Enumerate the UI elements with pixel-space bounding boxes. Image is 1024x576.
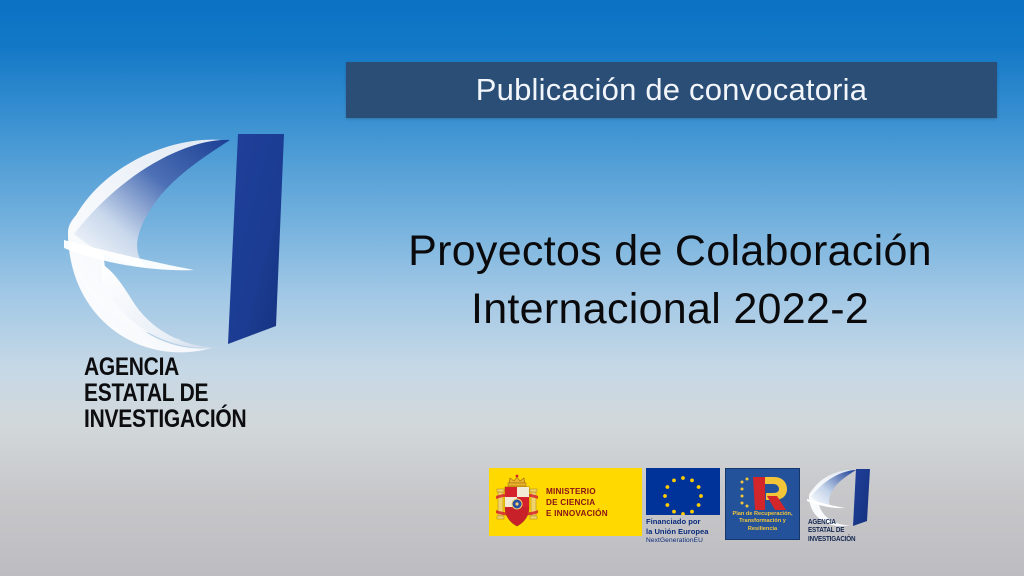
- banner-label: Publicación de convocatoria: [476, 72, 867, 108]
- eu-line-1: Financiado por: [646, 517, 721, 527]
- plan-line-1: Plan de Recuperación,: [726, 511, 799, 518]
- plan-line-3: Resiliencia: [726, 526, 799, 533]
- aei-small-logo: AGENCIA ESTATAL DE INVESTIGACIÓN: [806, 468, 876, 546]
- aei-small-line-1: AGENCIA: [808, 519, 855, 527]
- page-title-line-2: Internacional 2022-2: [330, 280, 1010, 338]
- eu-funding-logo: Financiado por la Unión Europea NextGene…: [646, 468, 721, 546]
- aei-emblem-icon: [62, 132, 306, 362]
- aei-small-line-2: ESTATAL DE: [808, 527, 855, 535]
- page-title: Proyectos de Colaboración Internacional …: [330, 222, 1010, 338]
- ministry-logo: MINISTERIO DE CIENCIA E INNOVACIÓN: [489, 468, 642, 536]
- plan-recuperacion-text: Plan de Recuperación, Transformación y R…: [726, 511, 799, 533]
- presentation-slide: Publicación de convocatoria Proyectos de…: [0, 0, 1024, 576]
- ministry-line-3: E INNOVACIÓN: [546, 508, 608, 519]
- aei-logo-line-2: ESTATAL DE: [84, 380, 246, 406]
- page-title-line-1: Proyectos de Colaboración: [330, 222, 1010, 280]
- ministry-line-1: MINISTERIO: [546, 486, 608, 497]
- banner-bar: Publicación de convocatoria: [346, 62, 997, 118]
- aei-logo-text: AGENCIA ESTATAL DE INVESTIGACIÓN: [84, 354, 246, 432]
- aei-small-logo-text: AGENCIA ESTATAL DE INVESTIGACIÓN: [808, 519, 855, 544]
- plan-line-2: Transformación y: [726, 518, 799, 525]
- plan-recuperacion-logo: Plan de Recuperación, Transformación y R…: [725, 468, 800, 540]
- eu-line-2: la Unión Europea: [646, 527, 721, 537]
- plan-recuperacion-r-icon: [726, 469, 799, 515]
- aei-logo-line-1: AGENCIA: [84, 354, 246, 380]
- spanish-coat-of-arms-icon: [495, 474, 539, 530]
- ministry-line-2: DE CIENCIA: [546, 497, 608, 508]
- aei-small-line-3: INVESTIGACIÓN: [808, 536, 855, 544]
- eu-line-3: NextGenerationEU: [646, 536, 721, 546]
- aei-logo: AGENCIA ESTATAL DE INVESTIGACIÓN: [62, 132, 306, 452]
- aei-logo-line-3: INVESTIGACIÓN: [84, 406, 246, 432]
- eu-stars-icon: [646, 468, 720, 515]
- footer-logo-strip: MINISTERIO DE CIENCIA E INNOVACIÓN: [489, 468, 876, 548]
- eu-flag-icon: [646, 468, 720, 515]
- ministry-logo-text: MINISTERIO DE CIENCIA E INNOVACIÓN: [546, 486, 608, 519]
- eu-funding-text: Financiado por la Unión Europea NextGene…: [646, 517, 721, 546]
